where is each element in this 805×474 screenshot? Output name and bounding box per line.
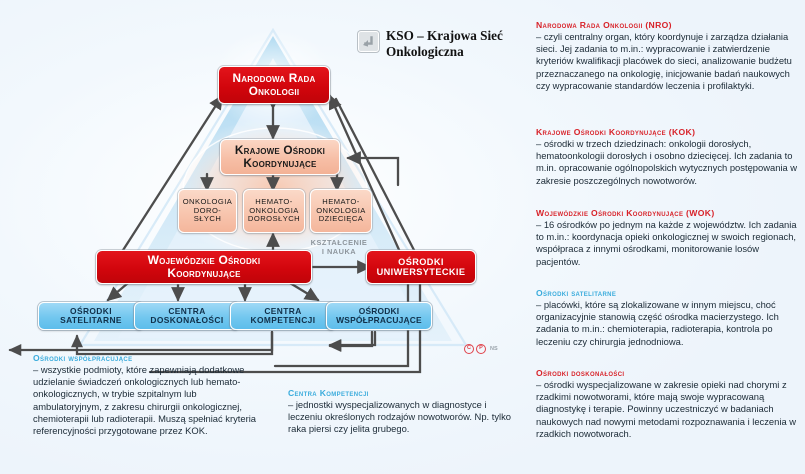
node-wok-line1: Wojewódzkie Ośrodki <box>148 254 261 267</box>
node-wok-line2: Koordynujące <box>167 267 240 280</box>
copyright-p-icon: P <box>476 344 486 354</box>
note-body: – jednostki wyspecjalizowanych w diagnos… <box>288 399 513 436</box>
note-body: – ośrodki wyspecjalizowane w zakresie op… <box>536 379 798 440</box>
note-heading: Ośrodki współpracujące <box>33 353 265 363</box>
note-heading: Ośrodki doskonałości <box>536 368 798 378</box>
node-nro-line2: Onkologii <box>249 85 300 98</box>
node-kompetencji-line2: KOMPETENCJI <box>251 316 316 325</box>
note-body: – placówki, które są zlokalizowane w inn… <box>536 299 798 348</box>
note-osrodki-satelitarne: Ośrodki satelitarne – placówki, które są… <box>536 288 798 348</box>
infographic-root: Narodowa Rada Onkologii Krajowe Ośrodki … <box>0 0 805 474</box>
note-wok: Wojewódzkie Ośrodki Koordynujące (WOK) –… <box>536 208 798 268</box>
note-centra-kompetencji: Centra Kompetencji – jednostki wyspecjal… <box>288 388 513 436</box>
node-uniwersyteckie-line2: UNIWERSYTECKIE <box>377 267 466 277</box>
legend-kso: KSO – Krajowa Sieć Onkologiczna <box>358 28 533 59</box>
node-osrodki-satelitarne[interactable]: OŚRODKI SATELITARNE <box>38 302 144 330</box>
edge-label-line2: I NAUKA <box>300 247 378 256</box>
note-kok: Krajowe Ośrodki Koordynujące (KOK) – ośr… <box>536 127 798 187</box>
note-osrodki-wspolpracujace: Ośrodki współpracujące – wszystkie podmi… <box>33 353 265 437</box>
note-body: – wszystkie podmioty, które zapewniają d… <box>33 364 265 437</box>
note-body: – 16 ośrodków po jednym na każde z wojew… <box>536 219 798 268</box>
note-heading: Wojewódzkie Ośrodki Koordynujące (WOK) <box>536 208 798 218</box>
node-uniwersyteckie-line1: OŚRODKI <box>398 257 444 267</box>
copyright-c-icon: C <box>464 344 474 354</box>
node-satelitarne-line2: SATELITARNE <box>60 316 122 325</box>
node-krajowe-osrodki-koordynujace[interactable]: Krajowe Ośrodki Koordynujące <box>220 139 340 175</box>
node-wspolpracujace-line2: WSPÓŁPRACUJĄCE <box>336 316 422 325</box>
copyright-mark: C P NS <box>464 344 498 354</box>
node-centra-doskonalosci[interactable]: CENTRA DOSKONAŁOŚCI <box>134 302 240 330</box>
note-body: – ośrodki w trzech dziedzinach: onkologi… <box>536 138 798 187</box>
legend-line2: Onkologiczna <box>386 44 464 59</box>
note-body: – czyli centralny organ, który koordynuj… <box>536 31 798 92</box>
node-osrodki-uniwersyteckie[interactable]: OŚRODKI UNIWERSYTECKIE <box>366 250 476 284</box>
edge-label-ksztalcenie-i-nauka: KSZTAŁCENIE I NAUKA <box>300 238 378 257</box>
note-osrodki-doskonalosci: Ośrodki doskonałości – ośrodki wyspecjal… <box>536 368 798 440</box>
note-heading: Narodowa Rada Onkologii (NRO) <box>536 20 798 30</box>
node-hematoonkologia-doroslych-line3: DOROSŁYCH <box>248 215 300 224</box>
note-nro: Narodowa Rada Onkologii (NRO) – czyli ce… <box>536 20 798 92</box>
node-centra-kompetencji[interactable]: CENTRA KOMPETENCJI <box>230 302 336 330</box>
copyright-ns-label: NS <box>490 346 498 352</box>
edge-label-line1: KSZTAŁCENIE <box>300 238 378 247</box>
download-arrow-icon <box>358 31 379 52</box>
node-kok-line2: Koordynujące <box>243 157 316 170</box>
node-hematoonkologia-doroslych[interactable]: HEMATO- ONKOLOGIA DOROSŁYCH <box>243 189 305 233</box>
legend-kso-text: KSO – Krajowa Sieć Onkologiczna <box>386 28 503 59</box>
legend-line1: KSO – Krajowa Sieć <box>386 28 503 43</box>
node-narodowa-rada-onkologii[interactable]: Narodowa Rada Onkologii <box>218 66 330 104</box>
note-heading: Ośrodki satelitarne <box>536 288 798 298</box>
node-hematoonkologia-dziecieca[interactable]: HEMATO- ONKOLOGIA DZIECIĘCA <box>310 189 372 233</box>
node-osrodki-wspolpracujace[interactable]: OŚRODKI WSPÓŁPRACUJĄCE <box>326 302 432 330</box>
node-wojewodzkie-osrodki-koordynujace[interactable]: Wojewódzkie Ośrodki Koordynujące <box>96 250 312 284</box>
note-heading: Krajowe Ośrodki Koordynujące (KOK) <box>536 127 798 137</box>
node-onkologia-doroslych[interactable]: ONKOLOGIA DORO- SŁYCH <box>178 189 237 233</box>
node-onkologia-doroslych-line3: SŁYCH <box>194 215 222 224</box>
node-doskonalosci-line2: DOSKONAŁOŚCI <box>150 316 223 325</box>
note-heading: Centra Kompetencji <box>288 388 513 398</box>
node-hematoonkologia-dziecieca-line3: DZIECIĘCA <box>319 215 364 224</box>
